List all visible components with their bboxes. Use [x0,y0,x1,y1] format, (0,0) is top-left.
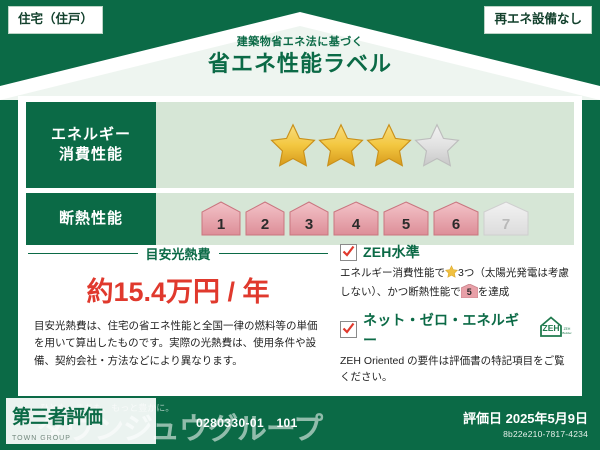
row-energy-performance: エネルギー 消費性能 [26,102,574,188]
star-empty-icon [413,122,461,168]
claim-net-zero-head: ネット・ゼロ・エネルギー ZEH ZEH Builder [340,310,572,350]
energy-label-line1: エネルギー [51,125,131,145]
claim-net-zero-body: ZEH Oriented の要件は評価書の特記項目をご覧ください。 [340,353,572,387]
main-panel: エネルギー 消費性能 断熱性能 1234567 目安 [18,96,582,396]
claim-net-zero-energy: ネット・ゼロ・エネルギー ZEH ZEH Builder ZEH Oriente… [340,310,572,387]
claim-body-pre: エネルギー消費性能で [340,267,445,279]
utility-cost-block: 目安光熱費 約15.4万円 / 年 目安光熱費は、住宅の省エネ性能と全国一律の燃… [28,244,328,370]
inline-level-badge: 5 [461,284,478,298]
performance-block: エネルギー 消費性能 断熱性能 1234567 [26,102,574,250]
inline-level-badge-value: 5 [461,285,478,299]
claim-body-post: を達成 [478,286,510,298]
claim-zeh-standard-body: エネルギー消費性能で3つ（太陽光発電は考慮しない）、かつ断熱性能で5を達成 [340,265,572,301]
header-subtitle: 建築物省エネ法に基づく [0,36,600,49]
energy-stars-cell [156,102,574,188]
utility-cost-amount: 約15.4万円 / 年 [28,270,328,309]
insulation-level-badge-active: 4 [333,201,379,237]
inline-star-icon [445,265,458,284]
tab-renewable-status[interactable]: 再エネ設備なし [484,6,592,34]
insulation-badges-cell: 1234567 [156,193,574,245]
insulation-level-value: 1 [217,216,225,237]
star-filled-icon [317,122,365,168]
footer-bar: 0280330-01 101 評価日 2025年5月9日 8b22e210-78… [0,396,600,450]
insulation-level-badge-active: 2 [245,201,285,237]
header-title-block: 建築物省エネ法に基づく 省エネ性能ラベル [0,36,600,78]
claim-net-zero-title: ネット・ゼロ・エネルギー [363,310,530,350]
energy-label: エネルギー 消費性能 [26,102,156,188]
claim-zeh-standard-head: ZEH水準 [340,242,572,262]
star-filled-icon [365,122,413,168]
insulation-level-value: 4 [352,216,360,237]
utility-cost-heading: 目安光熱費 [146,244,211,263]
insulation-level-scale: 1234567 [201,201,529,237]
insulation-level-value: 5 [402,216,410,237]
tab-building-type[interactable]: 住宅（住戸） [8,6,103,34]
claim-zeh-standard-title: ZEH水準 [363,242,420,262]
svg-text:ZEH: ZEH [543,323,560,333]
row-insulation-performance: 断熱性能 1234567 [26,193,574,245]
star-rating [269,122,461,168]
utility-cost-heading-row: 目安光熱費 [28,244,328,263]
evaluation-date: 評価日 2025年5月9日 [463,408,588,427]
evaluation-uuid: 8b22e210-7817-4234 [463,429,588,439]
page-title: 省エネ性能ラベル [0,50,600,78]
insulation-level-badge-active: 3 [289,201,329,237]
insulation-level-value: 2 [261,216,269,237]
insulation-level-badge-active: 5 [383,201,429,237]
svg-text:Builder: Builder [562,331,571,335]
energy-label-line2: 消費性能 [59,145,123,165]
insulation-level-value: 7 [502,216,510,237]
divider-right [219,253,329,254]
insulation-label: 断熱性能 [26,193,156,245]
utility-cost-note: 目安光熱費は、住宅の省エネ性能と全国一律の燃料等の単価を用いて算出したものです。… [28,318,328,370]
insulation-level-value: 3 [305,216,313,237]
insulation-level-badge-inactive: 7 [483,201,529,237]
insulation-level-badge-active: 1 [201,201,241,237]
zeh-house-logo-icon: ZEH ZEH Builder [538,315,572,344]
insulation-level-value: 6 [452,216,460,237]
claims-block: ZEH水準 エネルギー消費性能で3つ（太陽光発電は考慮しない）、かつ断熱性能で5… [340,242,572,395]
energy-label-root: 建築物省エネ法に基づく 省エネ性能ラベル 住宅（住戸） 再エネ設備なし エネルギ… [0,0,600,450]
footer-id-number: 0280330-01 101 [196,414,298,431]
checkmark-icon [340,244,357,261]
footer-date-block: 評価日 2025年5月9日 8b22e210-7817-4234 [463,408,588,439]
claim-zeh-standard: ZEH水準 エネルギー消費性能で3つ（太陽光発電は考慮しない）、かつ断熱性能で5… [340,242,572,301]
insulation-level-badge-active: 6 [433,201,479,237]
insulation-label-line1: 断熱性能 [59,209,123,229]
divider-left [28,253,138,254]
checkmark-icon [340,321,357,338]
star-filled-icon [269,122,317,168]
